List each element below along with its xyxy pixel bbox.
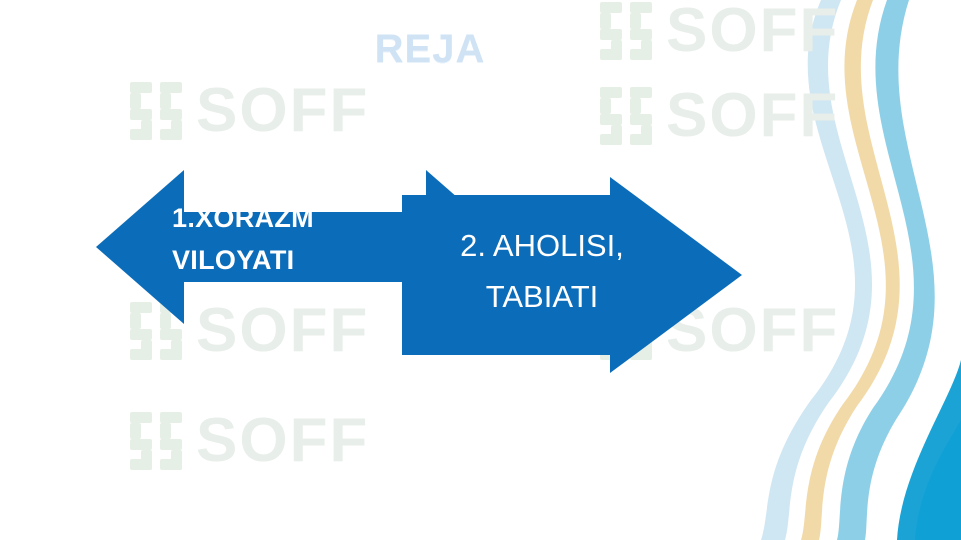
watermark-logo-icon	[130, 412, 186, 470]
wave-accent-cyan-2	[915, 420, 961, 540]
slide-canvas: SOFF SOFF SOFF SOFF SOFF	[0, 0, 961, 540]
watermark-text: SOFF	[196, 410, 369, 472]
arrow-shape-2: 2. AHOLISI, TABIATI	[398, 175, 746, 375]
wave-accent-cyan	[897, 360, 961, 540]
watermark: SOFF	[600, 85, 839, 147]
wave-band-white-3	[865, 0, 961, 540]
watermark: SOFF	[130, 80, 369, 142]
page-title: REJA	[0, 27, 860, 72]
watermark-text: SOFF	[666, 85, 839, 147]
watermark: SOFF	[130, 410, 369, 472]
arrow-2-label: 2. AHOLISI, TABIATI	[412, 220, 672, 322]
watermark-logo-icon	[600, 87, 656, 145]
wave-band-white-2	[819, 0, 961, 540]
wave-band-lightblue	[837, 0, 961, 540]
watermark-logo-icon	[130, 82, 186, 140]
watermark-text: SOFF	[196, 80, 369, 142]
